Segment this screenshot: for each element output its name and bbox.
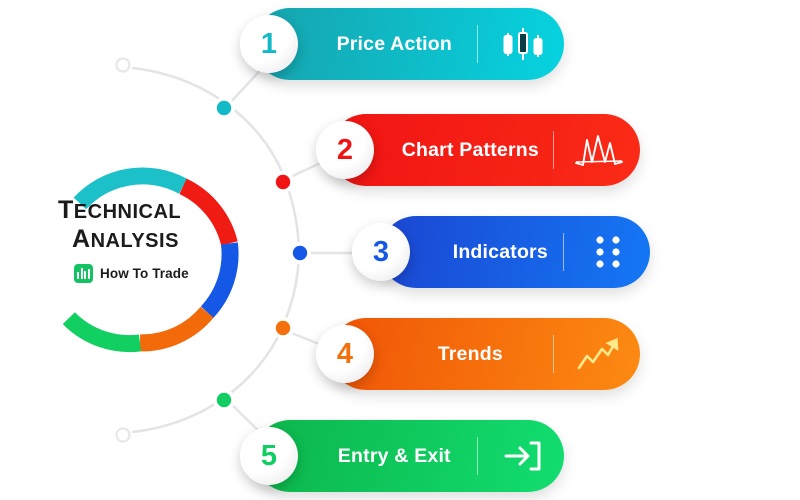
step-number-1[interactable]: 1	[240, 15, 298, 73]
connector-dot-5[interactable]	[217, 393, 231, 407]
step-number-4-text: 4	[337, 338, 353, 371]
connector-dot-1[interactable]	[217, 101, 231, 115]
connector-dot-4[interactable]	[276, 321, 290, 335]
step-number-2[interactable]: 2	[316, 121, 374, 179]
connector-dot-3[interactable]	[293, 246, 307, 260]
infographic-canvas: TECHNICAL ANALYSIS How To Trade Price Ac…	[0, 0, 800, 500]
step-number-2-text: 2	[337, 134, 353, 167]
step-number-5-text: 5	[261, 440, 277, 473]
connector-dot-2[interactable]	[276, 175, 290, 189]
step-number-4[interactable]: 4	[316, 325, 374, 383]
step-number-1-text: 1	[261, 28, 277, 61]
step-number-5[interactable]: 5	[240, 427, 298, 485]
step-number-3[interactable]: 3	[352, 223, 410, 281]
step-number-3-text: 3	[373, 236, 389, 269]
